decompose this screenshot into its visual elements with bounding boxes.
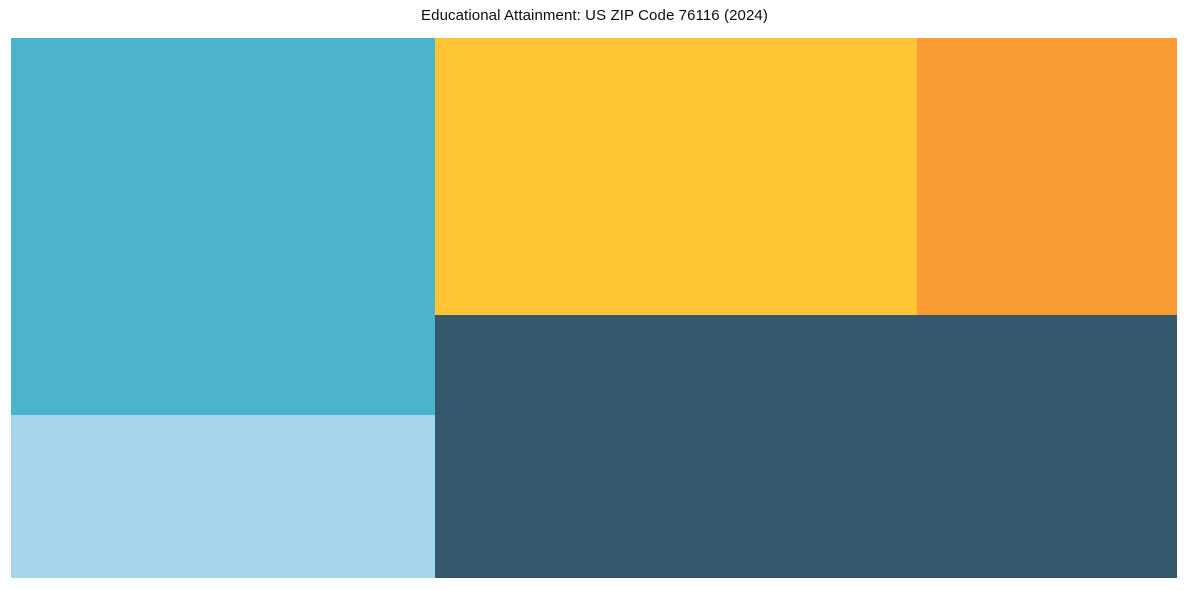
treemap-tile[interactable] xyxy=(917,38,1177,315)
page-title: Educational Attainment: US ZIP Code 7611… xyxy=(0,6,1189,26)
treemap-plot-area xyxy=(11,38,1177,578)
treemap-tile[interactable] xyxy=(11,415,435,578)
figure-canvas: Educational Attainment: US ZIP Code 7611… xyxy=(0,0,1189,590)
treemap-tile[interactable] xyxy=(435,315,1177,578)
treemap-tile[interactable] xyxy=(11,38,435,415)
treemap-tile[interactable] xyxy=(435,38,917,315)
